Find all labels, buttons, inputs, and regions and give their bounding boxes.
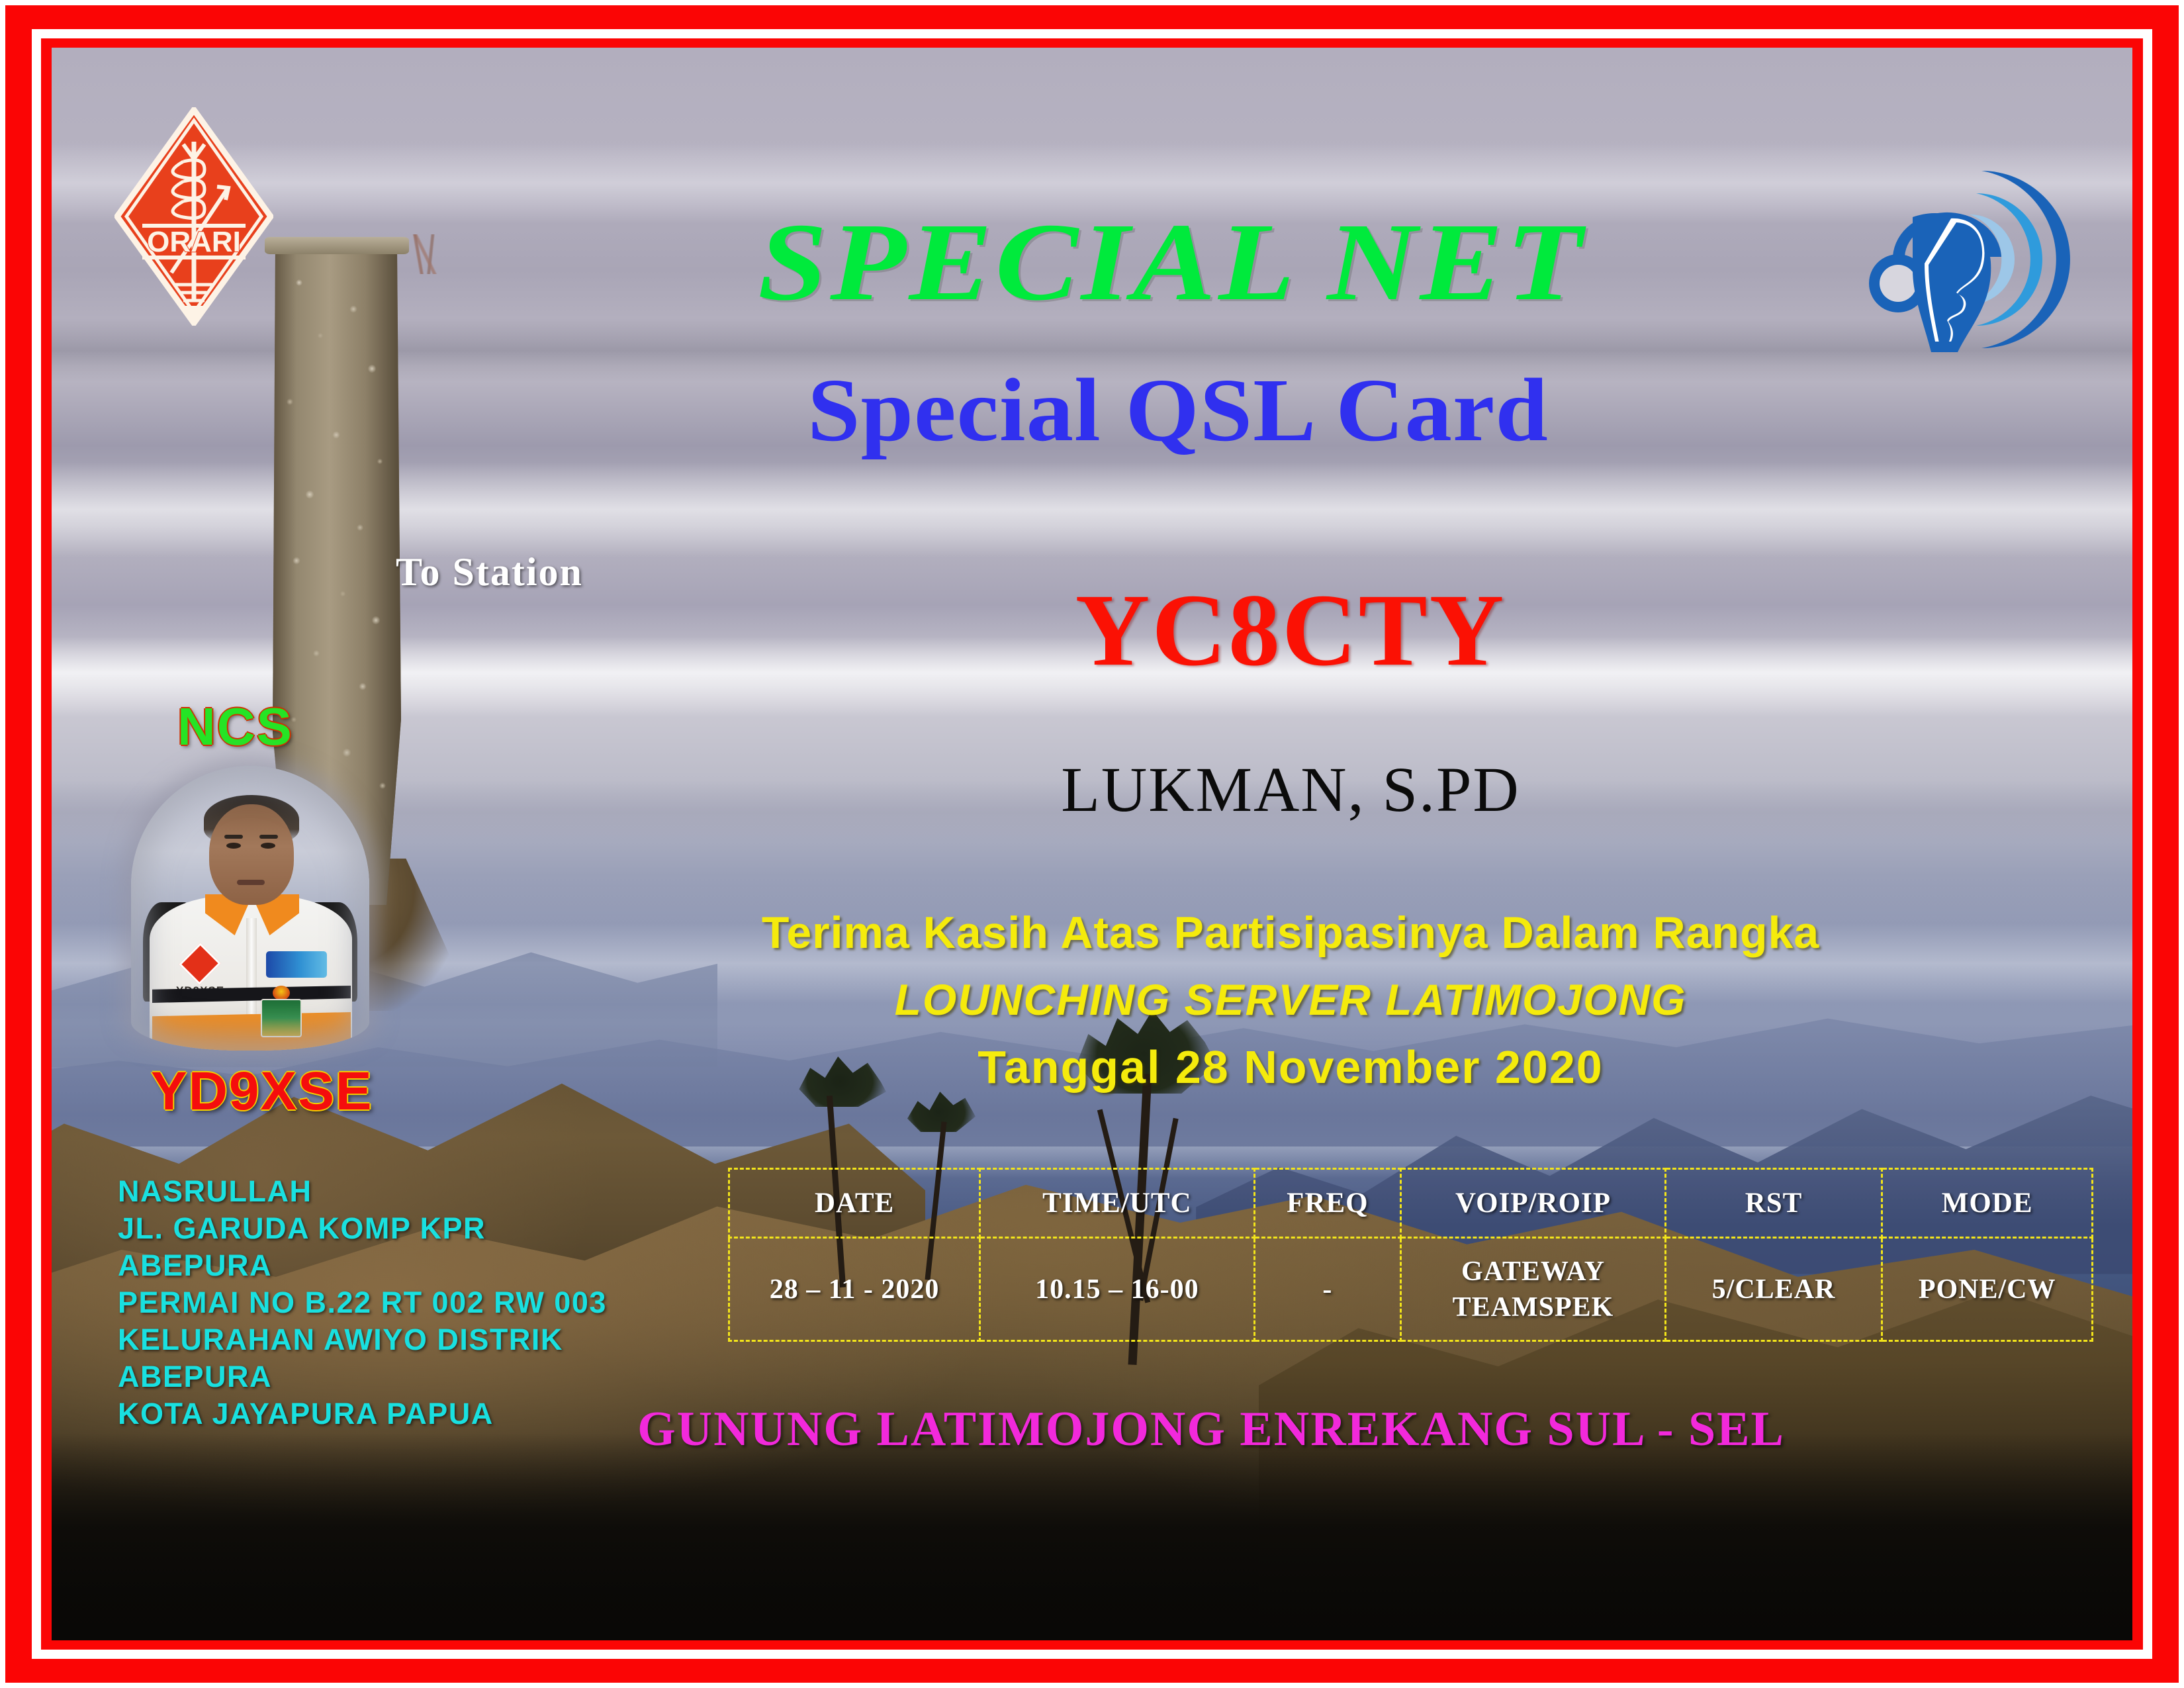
column-header-rst: RST <box>1665 1169 1882 1238</box>
column-header-mode: MODE <box>1882 1169 2093 1238</box>
cell-date: 28 – 11 - 2020 <box>729 1238 980 1341</box>
photo-vignette <box>131 766 369 1051</box>
address-line: NASRULLAH <box>118 1173 607 1210</box>
page-title: SPECIAL NET <box>52 199 2132 326</box>
address-line: KELURAHAN AWIYO DISTRIK <box>118 1321 607 1358</box>
column-header-voip: VOIP/ROIP <box>1401 1169 1666 1238</box>
table-header-row: DATE TIME/UTC FREQ VOIP/ROIP RST MODE <box>729 1169 2093 1238</box>
event-date-text: Tanggal 28 November 2020 <box>250 1041 2132 1094</box>
address-line: JL. GARUDA KOMP KPR <box>118 1210 607 1247</box>
cell-freq: - <box>1254 1238 1401 1341</box>
qso-log-table: DATE TIME/UTC FREQ VOIP/ROIP RST MODE 28… <box>728 1168 2093 1342</box>
ncs-callsign: YD9XSE <box>151 1060 373 1123</box>
address-line: ABEPURA <box>118 1247 607 1284</box>
qsl-card: ORARI SPECIAL NET Special Q <box>0 0 2184 1688</box>
ncs-label: NCS <box>177 696 293 757</box>
ncs-operator-photo: YD9XSE <box>131 766 369 1051</box>
location-caption: GUNUNG LATIMOJONG ENREKANG SUL - SEL <box>171 1401 2132 1458</box>
address-line: PERMAI NO B.22 RT 002 RW 003 <box>118 1284 607 1321</box>
cell-mode: PONE/CW <box>1882 1238 2093 1341</box>
cell-rst: 5/CLEAR <box>1665 1238 1882 1341</box>
photo-bottom-shade <box>52 1433 2132 1640</box>
operator-name: LUKMAN, S.PD <box>250 753 2132 826</box>
cell-voip: GATEWAYTEAMSPEK <box>1401 1238 1666 1341</box>
footer-motto: "AMATIR RADIO ADALAH PROGRESIVE" <box>128 1633 1124 1640</box>
column-header-time: TIME/UTC <box>980 1169 1254 1238</box>
address-block: NASRULLAH JL. GARUDA KOMP KPR ABEPURA PE… <box>118 1173 607 1432</box>
address-line: ABEPURA <box>118 1358 607 1395</box>
page-subtitle: Special QSL Card <box>85 359 2132 462</box>
column-header-freq: FREQ <box>1254 1169 1401 1238</box>
event-thanks-text: Terima Kasih Atas Partisipasinya Dalam R… <box>250 907 2132 959</box>
background-photo: ORARI SPECIAL NET Special Q <box>52 48 2132 1640</box>
cell-time: 10.15 – 16-00 <box>980 1238 1254 1341</box>
event-name-text: LOUNCHING SERVER LATIMOJONG <box>250 974 2132 1025</box>
footer-web-address: Address : amatir.latimojong.com <box>1329 1633 1998 1640</box>
table-row: 28 – 11 - 2020 10.15 – 16-00 - GATEWAYTE… <box>729 1238 2093 1341</box>
column-header-date: DATE <box>729 1169 980 1238</box>
station-callsign: YC8CTY <box>250 571 2132 690</box>
